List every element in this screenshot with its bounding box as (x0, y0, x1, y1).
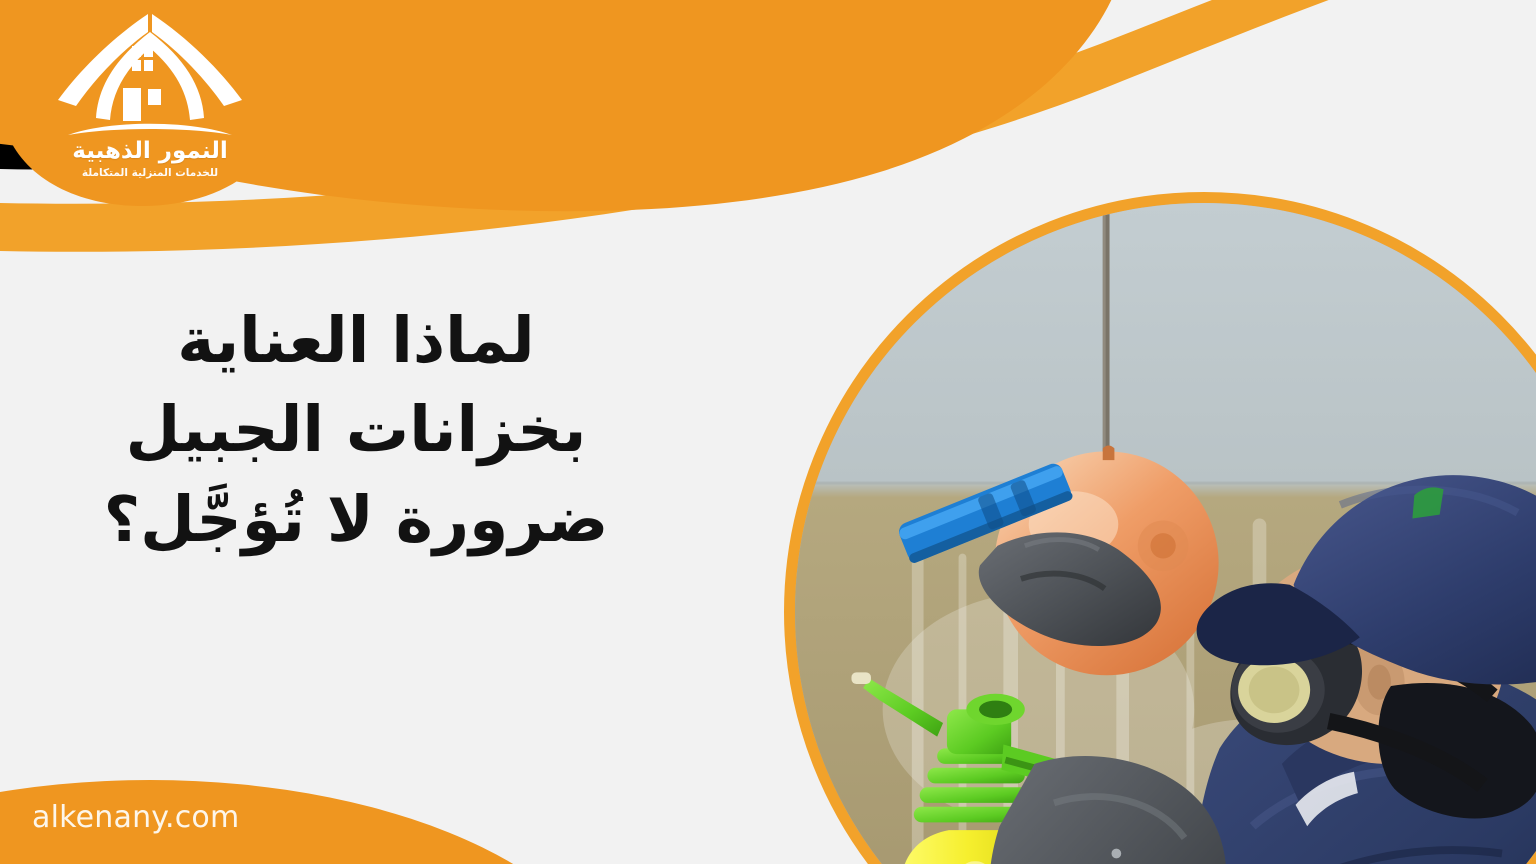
logo-tagline: للخدمات المنزلية المتكاملة (30, 167, 270, 180)
headline-line-3: ضرورة لا تُؤجَّل؟ (96, 475, 616, 564)
house-icon (50, 8, 250, 138)
headline-line-1: لماذا العناية (96, 296, 616, 385)
logo-brand-name: النمور الذهبية (30, 139, 270, 164)
brand-logo[interactable]: النمور الذهبية للخدمات المنزلية المتكامل… (30, 6, 270, 196)
page-title: لماذا العناية بخزانات الجبيل ضرورة لا تُ… (96, 296, 616, 564)
promo-banner: النمور الذهبية للخدمات المنزلية المتكامل… (0, 0, 1536, 864)
hero-photo (784, 192, 1536, 864)
website-url[interactable]: alkenany.com (32, 800, 239, 835)
tank-cleaning-illustration (795, 203, 1536, 864)
headline-line-2: بخزانات الجبيل (96, 385, 616, 474)
